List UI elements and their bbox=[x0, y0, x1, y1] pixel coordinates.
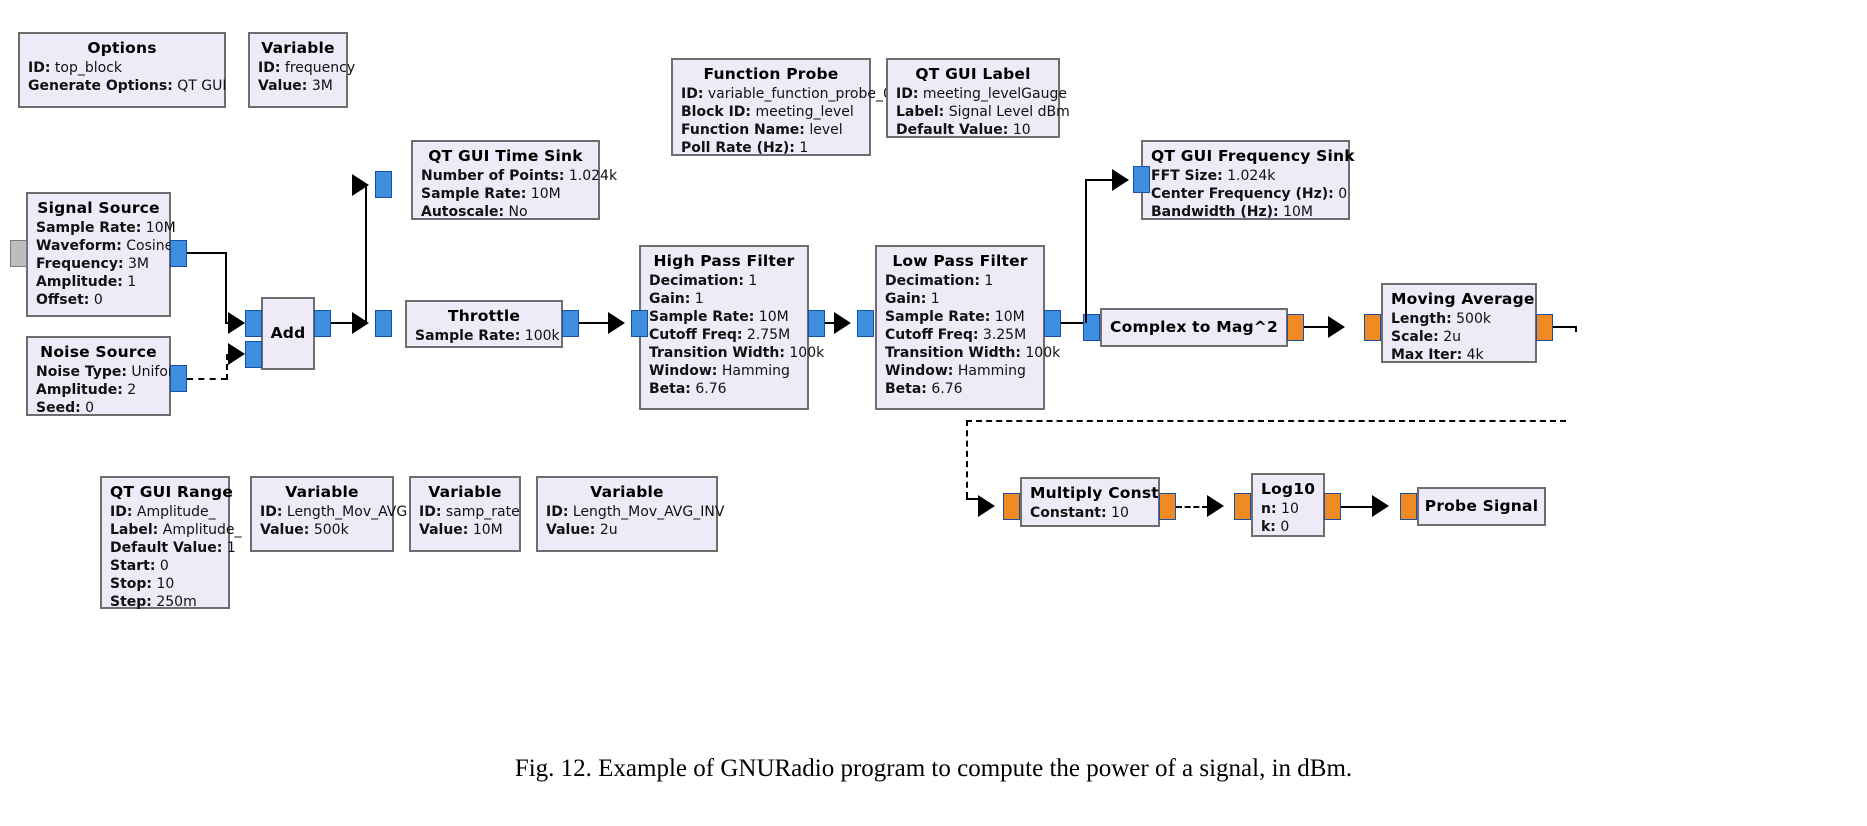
arrow-lpf-in bbox=[834, 312, 851, 334]
arrow-time-sink-in bbox=[352, 174, 369, 196]
block-title: Log10 bbox=[1261, 479, 1315, 499]
block-function-probe[interactable]: Function Probe ID: variable_function_pro… bbox=[671, 58, 871, 156]
block-param: Default Value: 10 bbox=[896, 121, 1050, 139]
block-param: Start: 0 bbox=[110, 557, 220, 575]
port-msg-signal-source[interactable] bbox=[10, 240, 27, 267]
block-param: Waveform: Cosine bbox=[36, 237, 161, 255]
block-log10[interactable]: Log10 n: 10 k: 0 bbox=[1251, 473, 1325, 537]
wire-feedback-drop bbox=[966, 420, 968, 498]
block-param: ID: Length_Mov_AVG bbox=[260, 503, 384, 521]
arrow-log10-in bbox=[1207, 495, 1224, 517]
block-param: Bandwidth (Hz): 10M bbox=[1151, 203, 1340, 221]
block-param: Offset: 0 bbox=[36, 291, 161, 309]
block-title: QT GUI Label bbox=[896, 64, 1050, 84]
block-param: n: 10 bbox=[1261, 500, 1315, 518]
wire-movavg-out bbox=[1553, 326, 1577, 328]
arrow-multiply-const-in bbox=[978, 495, 995, 517]
port-output-log10[interactable] bbox=[1324, 493, 1341, 520]
block-param: Value: 10M bbox=[419, 521, 511, 539]
block-param: ID: meeting_levelGauge bbox=[896, 85, 1050, 103]
block-param: Constant: 10 bbox=[1030, 504, 1150, 522]
block-param: Amplitude: 1 bbox=[36, 273, 161, 291]
block-title: Throttle bbox=[415, 306, 553, 326]
block-param: Label: Signal Level dBm bbox=[896, 103, 1050, 121]
port-output-high-pass-filter[interactable] bbox=[808, 310, 825, 337]
block-variable-frequency[interactable]: Variable ID: frequency Value: 3M bbox=[248, 32, 348, 108]
block-title: Noise Source bbox=[36, 342, 161, 362]
block-param: Value: 3M bbox=[258, 77, 338, 95]
block-probe-signal[interactable]: Probe Signal bbox=[1417, 487, 1546, 526]
block-options[interactable]: Options ID: top_block Generate Options: … bbox=[18, 32, 226, 108]
block-param: Sample Rate: 10M bbox=[421, 185, 590, 203]
block-add[interactable]: Add bbox=[261, 297, 315, 370]
block-param: Cutoff Freq: 2.75M bbox=[649, 326, 799, 344]
block-title: Variable bbox=[546, 482, 708, 502]
wire-lpf-freqsink-h bbox=[1085, 179, 1115, 181]
wire-mag2-movavg bbox=[1304, 326, 1329, 328]
block-title: QT GUI Range bbox=[110, 482, 220, 502]
block-multiply-const[interactable]: Multiply Const Constant: 10 bbox=[1020, 477, 1160, 527]
wire-noisesrc-add bbox=[187, 378, 227, 380]
wire-signalsrc-add bbox=[187, 252, 227, 254]
block-complex-to-mag2[interactable]: Complex to Mag^2 bbox=[1100, 308, 1288, 347]
port-input-add-1[interactable] bbox=[245, 341, 262, 368]
block-param: Stop: 10 bbox=[110, 575, 220, 593]
port-input-throttle[interactable] bbox=[375, 310, 392, 337]
block-title: Variable bbox=[258, 38, 338, 58]
block-title: QT GUI Time Sink bbox=[421, 146, 590, 166]
block-param: Decimation: 1 bbox=[885, 272, 1035, 290]
figure-caption: Fig. 12. Example of GNURadio program to … bbox=[0, 755, 1867, 783]
block-param: k: 0 bbox=[1261, 518, 1315, 536]
block-title: Signal Source bbox=[36, 198, 161, 218]
wire-signalsrc-add-drop bbox=[225, 252, 227, 323]
wire-feedback-to-mult bbox=[966, 498, 978, 500]
block-param: Window: Hamming bbox=[885, 362, 1035, 380]
block-title: Probe Signal bbox=[1425, 496, 1538, 516]
block-param: ID: samp_rate bbox=[419, 503, 511, 521]
block-param: Max Iter: 4k bbox=[1391, 346, 1527, 364]
block-param: Function Name: level bbox=[681, 121, 861, 139]
block-title: QT GUI Frequency Sink bbox=[1151, 146, 1340, 166]
block-param: Transition Width: 100k bbox=[885, 344, 1035, 362]
block-title: Variable bbox=[260, 482, 384, 502]
block-param: Decimation: 1 bbox=[649, 272, 799, 290]
port-input-add-0[interactable] bbox=[245, 310, 262, 337]
block-param: Value: 500k bbox=[260, 521, 384, 539]
block-title: Multiply Const bbox=[1030, 483, 1150, 503]
port-input-qt-gui-frequency-sink[interactable] bbox=[1133, 166, 1150, 193]
block-param: Sample Rate: 10M bbox=[649, 308, 799, 326]
block-param: Center Frequency (Hz): 0 bbox=[1151, 185, 1340, 203]
block-param: Noise Type: Uniform bbox=[36, 363, 161, 381]
block-param: Block ID: meeting_level bbox=[681, 103, 861, 121]
block-param: Seed: 0 bbox=[36, 399, 161, 417]
port-input-log10[interactable] bbox=[1234, 493, 1251, 520]
block-param: Number of Points: 1.024k bbox=[421, 167, 590, 185]
arrow-movavg-in bbox=[1328, 316, 1345, 338]
block-title: High Pass Filter bbox=[649, 251, 799, 271]
block-param: FFT Size: 1.024k bbox=[1151, 167, 1340, 185]
block-param: ID: variable_function_probe_0 bbox=[681, 85, 861, 103]
block-signal-source[interactable]: Signal Source Sample Rate: 10M Waveform:… bbox=[26, 192, 171, 317]
block-title: Variable bbox=[419, 482, 511, 502]
block-param: Beta: 6.76 bbox=[885, 380, 1035, 398]
block-qt-gui-label[interactable]: QT GUI Label ID: meeting_levelGauge Labe… bbox=[886, 58, 1060, 138]
block-param: Scale: 2u bbox=[1391, 328, 1527, 346]
arrow-throttle-in bbox=[352, 312, 369, 334]
block-param: ID: Length_Mov_AVG_INV bbox=[546, 503, 708, 521]
block-param: Length: 500k bbox=[1391, 310, 1527, 328]
arrow-add-in1 bbox=[228, 343, 245, 365]
block-param: Frequency: 3M bbox=[36, 255, 161, 273]
wire-add-to-timesink bbox=[365, 184, 367, 323]
arrow-probe-signal-in bbox=[1372, 495, 1389, 517]
block-noise-source[interactable]: Noise Source Noise Type: Uniform Amplitu… bbox=[26, 336, 171, 416]
block-param: Sample Rate: 10M bbox=[36, 219, 161, 237]
port-output-noise-source[interactable] bbox=[170, 365, 187, 392]
block-title: Moving Average bbox=[1391, 289, 1527, 309]
port-output-multiply-const[interactable] bbox=[1159, 493, 1176, 520]
block-param: Autoscale: No bbox=[421, 203, 590, 221]
port-input-multiply-const[interactable] bbox=[1003, 493, 1020, 520]
arrow-add-in0 bbox=[228, 312, 245, 334]
wire-movavg-wrap bbox=[1575, 326, 1577, 332]
block-param: ID: Amplitude_ bbox=[110, 503, 220, 521]
block-title: Options bbox=[28, 38, 216, 58]
block-variable-samp-rate[interactable]: Variable ID: samp_rate Value: 10M bbox=[409, 476, 521, 552]
block-param: Label: Amplitude_ bbox=[110, 521, 220, 539]
block-high-pass-filter[interactable]: High Pass Filter Decimation: 1 Gain: 1 S… bbox=[639, 245, 809, 410]
block-param: Window: Hamming bbox=[649, 362, 799, 380]
block-qt-gui-frequency-sink[interactable]: QT GUI Frequency Sink FFT Size: 1.024k C… bbox=[1141, 140, 1350, 220]
block-variable-length-mov-avg-inv[interactable]: Variable ID: Length_Mov_AVG_INV Value: 2… bbox=[536, 476, 718, 552]
wire-feedback-top bbox=[966, 420, 1566, 422]
block-param: Sample Rate: 10M bbox=[885, 308, 1035, 326]
block-variable-length-mov-avg[interactable]: Variable ID: Length_Mov_AVG Value: 500k bbox=[250, 476, 394, 552]
block-param: Gain: 1 bbox=[885, 290, 1035, 308]
block-param: Cutoff Freq: 3.25M bbox=[885, 326, 1035, 344]
port-input-low-pass-filter[interactable] bbox=[857, 310, 874, 337]
wire-lpf-freqsink bbox=[1085, 179, 1087, 323]
port-input-moving-average[interactable] bbox=[1364, 314, 1381, 341]
block-low-pass-filter[interactable]: Low Pass Filter Decimation: 1 Gain: 1 Sa… bbox=[875, 245, 1045, 410]
block-param: ID: frequency bbox=[258, 59, 338, 77]
block-moving-average[interactable]: Moving Average Length: 500k Scale: 2u Ma… bbox=[1381, 283, 1537, 363]
block-param: ID: top_block bbox=[28, 59, 216, 77]
block-param: Generate Options: QT GUI bbox=[28, 77, 216, 95]
wire-throttle-hpf bbox=[579, 322, 609, 324]
port-output-moving-average[interactable] bbox=[1536, 314, 1553, 341]
block-param: Step: 250m bbox=[110, 593, 220, 611]
block-param: Amplitude: 2 bbox=[36, 381, 161, 399]
block-title: Complex to Mag^2 bbox=[1110, 317, 1278, 337]
block-title: Add bbox=[271, 323, 306, 343]
block-throttle[interactable]: Throttle Sample Rate: 100k bbox=[405, 300, 563, 348]
block-title: Function Probe bbox=[681, 64, 861, 84]
block-param: Transition Width: 100k bbox=[649, 344, 799, 362]
block-param: Value: 2u bbox=[546, 521, 708, 539]
block-param: Beta: 6.76 bbox=[649, 380, 799, 398]
block-param: Gain: 1 bbox=[649, 290, 799, 308]
block-param: Default Value: 1 bbox=[110, 539, 220, 557]
port-input-qt-gui-time-sink[interactable] bbox=[375, 171, 392, 198]
wire-log10-probe bbox=[1341, 506, 1373, 508]
block-qt-gui-time-sink[interactable]: QT GUI Time Sink Number of Points: 1.024… bbox=[411, 140, 600, 220]
port-output-low-pass-filter[interactable] bbox=[1044, 310, 1061, 337]
wire-lpf-out bbox=[1061, 322, 1083, 324]
block-title: Low Pass Filter bbox=[885, 251, 1035, 271]
port-output-complex-to-mag2[interactable] bbox=[1287, 314, 1304, 341]
wire-mult-log10 bbox=[1176, 506, 1208, 508]
port-output-add[interactable] bbox=[314, 310, 331, 337]
block-param: Poll Rate (Hz): 1 bbox=[681, 139, 861, 157]
port-input-probe-signal[interactable] bbox=[1400, 493, 1417, 520]
port-output-throttle[interactable] bbox=[562, 310, 579, 337]
port-input-high-pass-filter[interactable] bbox=[631, 310, 648, 337]
arrow-hpf-in bbox=[608, 312, 625, 334]
port-output-signal-source[interactable] bbox=[170, 240, 187, 267]
block-param: Sample Rate: 100k bbox=[415, 327, 553, 345]
block-qt-gui-range[interactable]: QT GUI Range ID: Amplitude_ Label: Ampli… bbox=[100, 476, 230, 609]
